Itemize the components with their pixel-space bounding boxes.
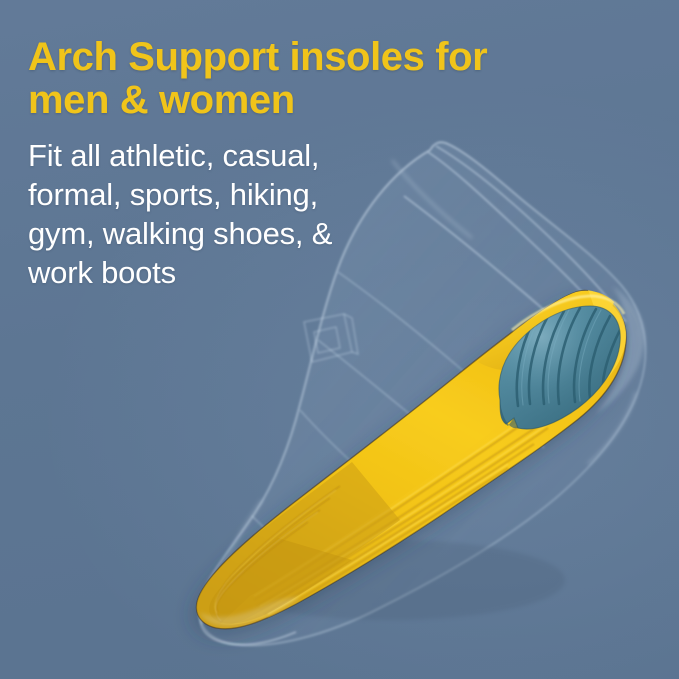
insole-groove-highlights [254,394,560,614]
page-title: Arch Support insoles for men & women [28,36,568,122]
ghost-shoe-seams [252,272,544,562]
heel-pad-groove-highlights [522,310,601,405]
insole-toe-section [196,462,400,626]
insole-top-sheen [220,296,626,625]
insole-body [197,291,627,629]
insole-toe-ridges [216,486,340,622]
subcopy-line-2: formal, sports, hiking, [28,175,568,214]
insole-heel-rim [478,290,626,380]
insole-toe-ridge-highlights [215,490,336,621]
subcopy-line-1: Fit all athletic, casual, [28,136,568,175]
ghost-shoe-tag-icon [304,314,358,362]
heel-gel-pad [499,306,620,429]
subcopy: Fit all athletic, casual, formal, sports… [28,136,568,292]
headline-line-1: Arch Support insoles for [28,36,568,79]
subcopy-line-4: work boots [28,253,568,292]
heel-pad-notch [500,400,518,428]
headline-line-2: men & women [28,79,568,122]
copy-block: Arch Support insoles for men & women Fit… [28,36,568,292]
ghost-shoe-toe-cap [200,544,296,645]
heel-pad-grooves [517,308,620,406]
heel-specular-highlight [512,296,624,330]
insole-contact-shadow [215,540,565,620]
subcopy-line-3: gym, walking shoes, & [28,214,568,253]
product-ad-image: Arch Support insoles for men & women Fit… [0,0,679,679]
glass-reflection-overlay [200,286,645,626]
insole-flex-grooves [254,398,560,618]
